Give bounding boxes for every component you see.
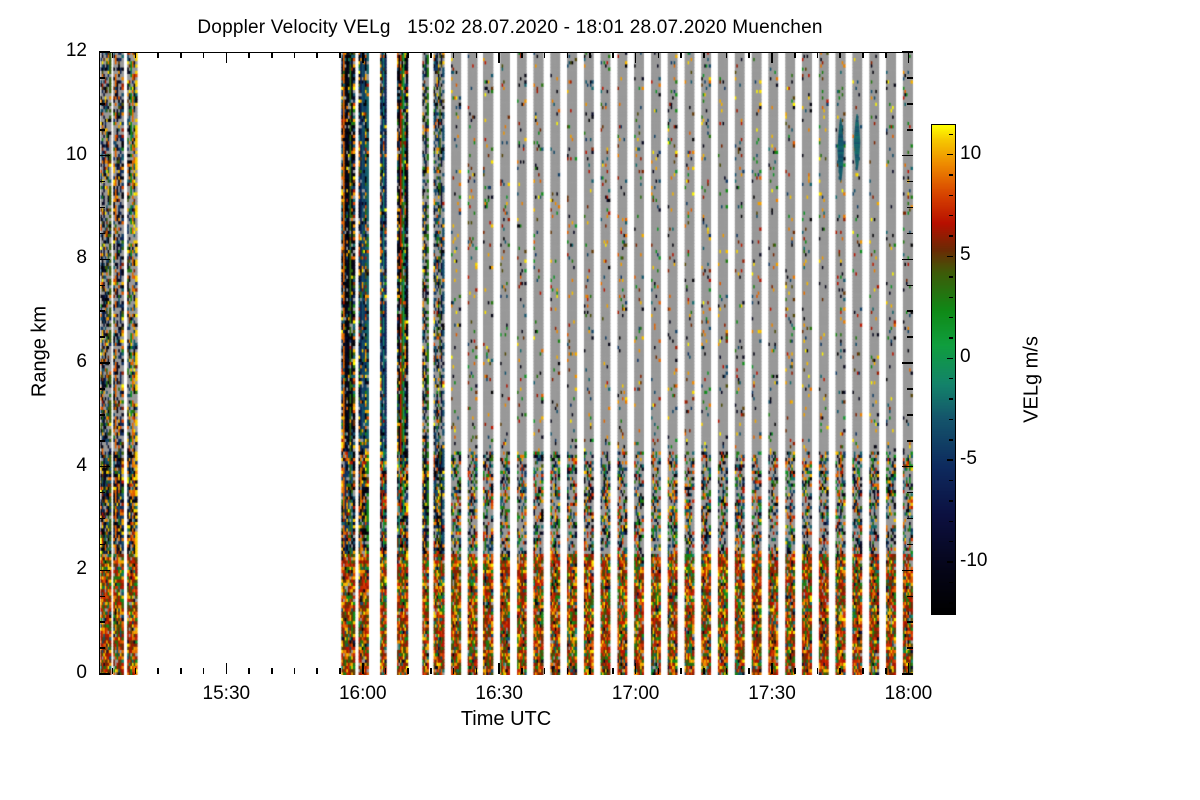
y-tick-minor <box>99 647 105 649</box>
y-tick-minor <box>99 207 105 209</box>
colorbar-tick-minor <box>949 398 953 399</box>
colorbar <box>931 124 954 613</box>
x-tick-minor-top <box>521 52 523 58</box>
x-tick-minor <box>862 668 864 674</box>
y-tick-minor-right <box>907 596 913 598</box>
colorbar-tick-minor <box>949 276 953 277</box>
x-tick-label: 17:30 <box>727 683 817 705</box>
colorbar-tick <box>947 154 953 156</box>
x-tick-minor-top <box>680 52 682 58</box>
y-tick-minor <box>99 544 105 546</box>
colorbar-tick-minor <box>949 235 953 236</box>
x-tick-minor <box>544 668 546 674</box>
y-tick-major-right <box>902 673 913 675</box>
colorbar-tick-minor <box>949 195 953 196</box>
y-tick-minor <box>99 388 105 390</box>
x-tick-minor-top <box>180 52 182 58</box>
y-tick-minor-right <box>907 77 913 79</box>
colorbar-tick-minor <box>949 582 953 583</box>
colorbar-tick-minor <box>949 541 953 542</box>
colorbar-tick <box>947 561 953 563</box>
colorbar-title: VELg m/s <box>1021 270 1044 490</box>
x-tick-minor-top <box>885 52 887 58</box>
x-tick-minor-top <box>839 52 841 58</box>
x-tick-minor <box>271 668 273 674</box>
colorbar-tick-minor <box>949 174 953 175</box>
x-tick-minor <box>180 668 182 674</box>
y-tick-major-right <box>902 259 913 261</box>
y-tick-major <box>99 362 110 364</box>
x-tick-major <box>226 663 228 674</box>
y-tick-minor-right <box>907 103 913 105</box>
x-tick-major <box>771 663 773 674</box>
colorbar-tick-minor <box>949 134 953 135</box>
x-tick-major <box>635 663 637 674</box>
colorbar-tick-minor <box>949 602 953 603</box>
x-tick-minor <box>817 668 819 674</box>
y-tick-minor-right <box>907 621 913 623</box>
x-tick-minor-top <box>476 52 478 58</box>
x-tick-minor-top <box>658 52 660 58</box>
colorbar-tick-minor <box>949 215 953 216</box>
colorbar-tick-minor <box>949 378 953 379</box>
y-tick-major <box>99 570 110 572</box>
colorbar-tick-label: 5 <box>960 244 971 266</box>
x-tick-minor <box>112 668 114 674</box>
x-tick-minor <box>748 668 750 674</box>
x-tick-minor <box>203 668 205 674</box>
x-tick-minor <box>658 668 660 674</box>
y-tick-minor <box>99 621 105 623</box>
y-tick-minor <box>99 440 105 442</box>
x-tick-minor <box>385 668 387 674</box>
colorbar-tick-minor <box>949 297 953 298</box>
x-tick-minor <box>794 668 796 674</box>
x-tick-major <box>498 663 500 674</box>
y-tick-label: 0 <box>27 662 87 684</box>
x-tick-minor <box>476 668 478 674</box>
colorbar-tick-minor <box>949 337 953 338</box>
y-tick-minor <box>99 285 105 287</box>
y-tick-label: 10 <box>27 144 87 166</box>
x-tick-minor-top <box>385 52 387 58</box>
y-tick-minor <box>99 129 105 131</box>
x-tick-major-top <box>771 52 773 63</box>
y-tick-label: 4 <box>27 455 87 477</box>
y-tick-major <box>99 673 110 675</box>
x-tick-minor <box>248 668 250 674</box>
colorbar-tick <box>947 459 953 461</box>
colorbar-tick-label: 0 <box>960 346 971 368</box>
colorbar-tick-minor <box>949 521 953 522</box>
x-tick-minor <box>589 668 591 674</box>
y-tick-minor-right <box>907 336 913 338</box>
x-tick-minor-top <box>862 52 864 58</box>
colorbar-tick <box>947 256 953 258</box>
x-tick-minor <box>839 668 841 674</box>
x-tick-major <box>362 663 364 674</box>
x-tick-minor <box>294 668 296 674</box>
y-tick-major-right <box>902 362 913 364</box>
colorbar-tick-minor <box>949 500 953 501</box>
y-tick-minor-right <box>907 647 913 649</box>
x-tick-minor-top <box>294 52 296 58</box>
x-tick-minor <box>157 668 159 674</box>
x-tick-label: 16:30 <box>454 683 544 705</box>
y-tick-minor-right <box>907 388 913 390</box>
x-tick-major-top <box>362 52 364 63</box>
x-tick-minor-top <box>316 52 318 58</box>
x-tick-major-top <box>498 52 500 63</box>
x-tick-minor <box>407 668 409 674</box>
x-tick-minor-top <box>112 52 114 58</box>
colorbar-tick-minor <box>949 480 953 481</box>
doppler-velocity-figure: Doppler Velocity VELg 15:02 28.07.2020 -… <box>0 0 1200 800</box>
y-axis-title: Range km <box>29 272 52 432</box>
y-tick-major <box>99 51 110 53</box>
y-tick-major-right <box>902 570 913 572</box>
y-tick-minor-right <box>907 544 913 546</box>
y-tick-major <box>99 466 110 468</box>
y-tick-minor-right <box>907 207 913 209</box>
colorbar-tick-minor <box>949 317 953 318</box>
x-tick-minor-top <box>794 52 796 58</box>
x-tick-minor-top <box>544 52 546 58</box>
x-tick-minor-top <box>453 52 455 58</box>
x-tick-minor-top <box>248 52 250 58</box>
x-tick-label: 15:30 <box>181 683 271 705</box>
x-tick-minor-top <box>748 52 750 58</box>
x-tick-minor <box>135 668 137 674</box>
x-tick-major-top <box>908 52 910 63</box>
x-tick-minor-top <box>157 52 159 58</box>
x-tick-minor-top <box>567 52 569 58</box>
x-tick-label: 18:00 <box>863 683 953 705</box>
page-title: Doppler Velocity VELg 15:02 28.07.2020 -… <box>0 17 1020 39</box>
x-tick-label: 16:00 <box>318 683 408 705</box>
y-tick-major <box>99 155 110 157</box>
radar-heatmap-canvas <box>100 53 914 675</box>
x-tick-minor-top <box>203 52 205 58</box>
y-tick-minor <box>99 518 105 520</box>
y-tick-major-right <box>902 155 913 157</box>
x-tick-label: 17:00 <box>591 683 681 705</box>
y-tick-minor-right <box>907 492 913 494</box>
x-tick-minor-top <box>339 52 341 58</box>
x-tick-minor <box>680 668 682 674</box>
y-tick-minor <box>99 492 105 494</box>
x-tick-minor <box>430 668 432 674</box>
colorbar-tick <box>947 358 953 360</box>
colorbar-tick-label: 10 <box>960 143 981 165</box>
y-tick-minor <box>99 596 105 598</box>
plot-area <box>99 52 913 674</box>
y-tick-minor <box>99 77 105 79</box>
x-tick-minor <box>521 668 523 674</box>
colorbar-tick-label: -5 <box>960 448 977 470</box>
x-tick-minor <box>316 668 318 674</box>
x-tick-major-top <box>635 52 637 63</box>
y-tick-label: 2 <box>27 558 87 580</box>
y-tick-minor-right <box>907 414 913 416</box>
x-tick-minor <box>339 668 341 674</box>
y-tick-minor-right <box>907 129 913 131</box>
x-tick-minor <box>726 668 728 674</box>
x-tick-minor <box>612 668 614 674</box>
y-tick-minor-right <box>907 181 913 183</box>
x-axis-title: Time UTC <box>99 708 913 731</box>
x-tick-minor-top <box>612 52 614 58</box>
y-tick-minor <box>99 336 105 338</box>
x-tick-minor-top <box>271 52 273 58</box>
colorbar-tick-minor <box>949 419 953 420</box>
x-tick-minor-top <box>703 52 705 58</box>
x-tick-minor <box>453 668 455 674</box>
y-tick-minor <box>99 181 105 183</box>
x-tick-minor-top <box>407 52 409 58</box>
y-tick-major-right <box>902 466 913 468</box>
y-tick-minor-right <box>907 440 913 442</box>
y-tick-label: 12 <box>27 40 87 62</box>
y-tick-label: 8 <box>27 247 87 269</box>
y-tick-minor-right <box>907 518 913 520</box>
y-tick-minor <box>99 103 105 105</box>
y-tick-minor-right <box>907 233 913 235</box>
y-tick-minor <box>99 414 105 416</box>
colorbar-tick-label: -10 <box>960 550 987 572</box>
x-tick-minor-top <box>817 52 819 58</box>
y-tick-minor-right <box>907 310 913 312</box>
y-tick-minor <box>99 233 105 235</box>
x-tick-minor-top <box>726 52 728 58</box>
x-tick-minor <box>703 668 705 674</box>
x-tick-minor-top <box>430 52 432 58</box>
x-tick-minor <box>567 668 569 674</box>
x-tick-minor <box>885 668 887 674</box>
y-tick-minor-right <box>907 285 913 287</box>
x-tick-minor-top <box>135 52 137 58</box>
x-tick-minor-top <box>589 52 591 58</box>
y-tick-major <box>99 259 110 261</box>
y-tick-major-right <box>902 51 913 53</box>
colorbar-tick-minor <box>949 439 953 440</box>
x-tick-major-top <box>226 52 228 63</box>
y-tick-minor <box>99 310 105 312</box>
